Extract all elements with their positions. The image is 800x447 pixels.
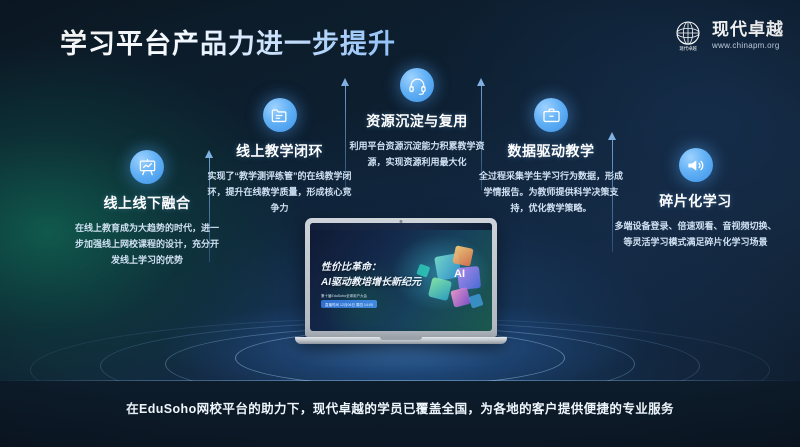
page-title: 学习平台产品力进一步提升 [60, 22, 396, 61]
folder-icon [263, 98, 297, 132]
screen-schedule-pill: 直播时间 12月06日 周四 14:00 [321, 300, 377, 308]
svg-text:现代卓越: 现代卓越 [679, 45, 697, 52]
feature-title: 资源沉淀与复用 [341, 111, 493, 131]
screen-headline: 性价比革命：AI驱动教培增长新纪元 [321, 261, 429, 290]
feature-card-4[interactable]: 数据驱动教学 全过程采集学生学习行为数据，形成学情报告。为教师提供科学决策支持，… [477, 98, 625, 216]
feature-title: 数据驱动教学 [477, 141, 625, 161]
laptop-base [295, 337, 507, 344]
feature-body: 实现了“教学测评练管”的在线教学闭环，提升在线教学质量，形成核心竞争力 [207, 169, 352, 216]
slide-canvas: 学习平台产品力进一步提升 现代卓越 现代卓越 www.chinapm.org [0, 0, 800, 447]
feature-card-2[interactable]: 线上教学闭环 实现了“教学测评练管”的在线教学闭环，提升在线教学质量，形成核心竞… [207, 98, 352, 216]
headset-icon [400, 68, 434, 102]
footer-caption: 在EduSoho网校平台的助力下，现代卓越的学员已覆盖全国，为各地的客户提供便捷… [0, 398, 800, 417]
megaphone-icon [679, 148, 713, 182]
feature-body: 在线上教育成为大趋势的时代，进一步加强线上网校课程的设计，充分开发线上学习的优势 [72, 221, 222, 268]
globe-icon: 现代卓越 [671, 18, 705, 52]
feature-card-1[interactable]: 线上线下融合 在线上教育成为大趋势的时代，进一步加强线上网校课程的设计，充分开发… [72, 150, 222, 268]
briefcase-icon [534, 98, 568, 132]
brand-url: www.chinapm.org [712, 42, 784, 50]
screen-header-bar [310, 223, 492, 230]
feature-title: 碎片化学习 [613, 191, 778, 211]
feature-card-3[interactable]: 资源沉淀与复用 利用平台资源沉淀能力积累教学资源，实现资源利用最大化 [341, 68, 493, 171]
feature-body: 多端设备登录、倍速观看、音视频切换、等灵活学习模式满足碎片化学习场景 [613, 219, 778, 251]
feature-body: 利用平台资源沉淀能力积累教学资源，实现资源利用最大化 [341, 139, 493, 171]
brand-logo: 现代卓越 现代卓越 www.chinapm.org [671, 18, 784, 52]
feature-body: 全过程采集学生学习行为数据，形成学情报告。为教师提供科学决策支持，优化教学策略。 [477, 169, 625, 216]
presentation-chart-icon [130, 150, 164, 184]
screen-subtitle: 第十届EduSoho全球用户大会 [321, 293, 367, 298]
laptop-mockup: AI 性价比革命：AI驱动教培增长新纪元 第十届EduSoho全球用户大会 直播… [305, 218, 497, 344]
feature-title: 线上线下融合 [72, 193, 222, 213]
svg-text:AI: AI [454, 268, 465, 280]
laptop-screen: AI 性价比革命：AI驱动教培增长新纪元 第十届EduSoho全球用户大会 直播… [310, 223, 492, 331]
brand-name: 现代卓越 [712, 21, 784, 38]
feature-title: 线上教学闭环 [207, 141, 352, 161]
laptop-lid: AI 性价比革命：AI驱动教培增长新纪元 第十届EduSoho全球用户大会 直播… [305, 218, 497, 337]
feature-card-5[interactable]: 碎片化学习 多端设备登录、倍速观看、音视频切换、等灵活学习模式满足碎片化学习场景 [613, 148, 778, 251]
